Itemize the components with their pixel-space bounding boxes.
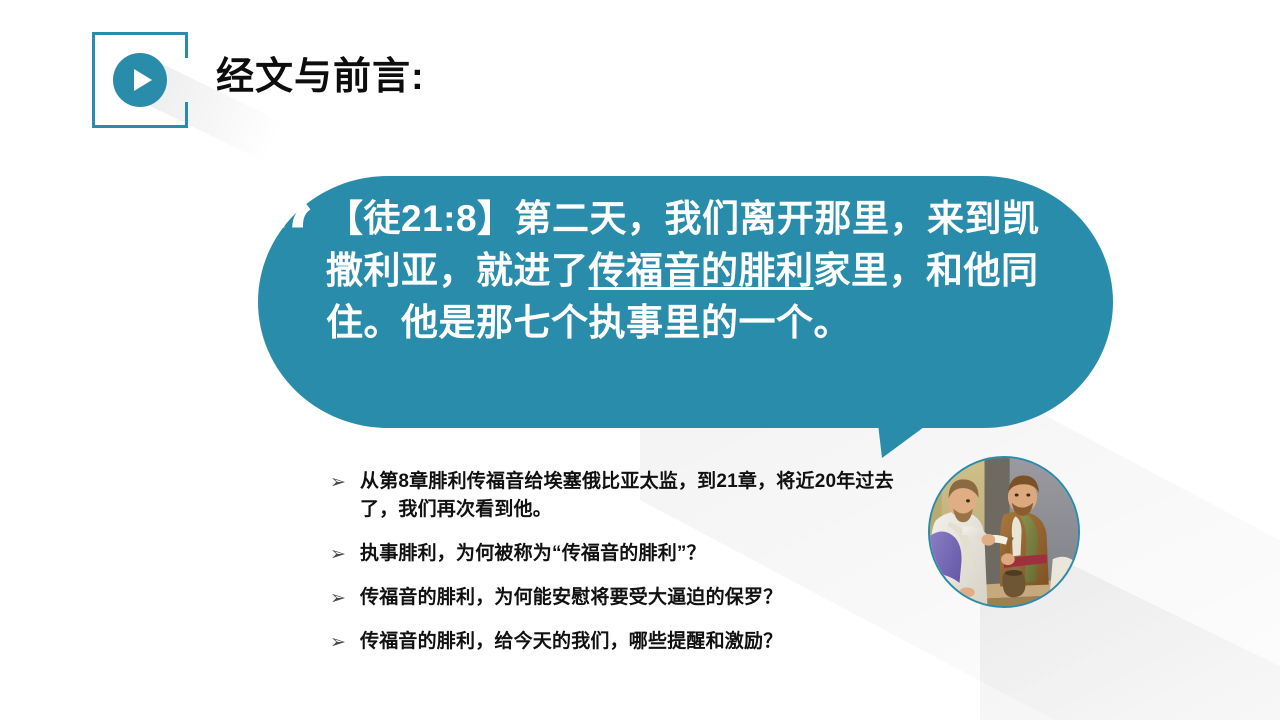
play-button-icon[interactable] (92, 32, 188, 128)
arrow-bullet-icon: ➢ (330, 468, 360, 496)
figure-artwork (930, 458, 1078, 606)
page-title: 经文与前言: (216, 50, 425, 104)
list-item-label: 传福音的腓利，为何能安慰将要受大逼迫的保罗？ (360, 584, 910, 612)
slide-canvas: 经文与前言: “ 【徒21:8】第二天，我们离开那里，来到凯撒利亚，就进了传福音… (0, 0, 1280, 720)
quote-bubble-tail (878, 424, 928, 458)
quotation-mark-icon: “ (268, 196, 312, 278)
frame-left-segment (92, 32, 95, 128)
list-item: ➢ 执事腓利，为何被称为“传福音的腓利”？ (330, 540, 910, 568)
bullet-list: ➢ 从第8章腓利传福音给埃塞俄比亚太监，到21章，将近20年过去了，我们再次看到… (330, 468, 910, 656)
arrow-bullet-icon: ➢ (330, 628, 360, 656)
play-circle-icon[interactable] (113, 53, 167, 107)
quote-line-4: 的一个。 (701, 302, 851, 343)
frame-right-top-segment (185, 32, 188, 58)
play-triangle-glyph (134, 69, 152, 91)
list-item: ➢ 传福音的腓利，给今天的我们，哪些提醒和激励？ (330, 628, 910, 656)
list-item-label: 执事腓利，为何被称为“传福音的腓利”？ (360, 540, 910, 568)
frame-top-segment (92, 32, 188, 35)
frame-right-bottom-segment (185, 102, 188, 128)
list-item-label: 传福音的腓利，给今天的我们，哪些提醒和激励？ (360, 628, 910, 656)
arrow-bullet-icon: ➢ (330, 584, 360, 612)
arrow-bullet-icon: ➢ (330, 540, 360, 568)
biblical-scene-illustration (928, 456, 1080, 608)
quote-emphasis: 传福音的腓利 (589, 250, 814, 291)
list-item: ➢ 传福音的腓利，为何能安慰将要受大逼迫的保罗？ (330, 584, 910, 612)
list-item-label: 从第8章腓利传福音给埃塞俄比亚太监，到21章，将近20年过去了，我们再次看到他。 (360, 468, 910, 524)
quote-line-1: 【徒21:8】第二天，我们离开那里， (326, 198, 927, 239)
quote-text: 【徒21:8】第二天，我们离开那里，来到凯撒利亚，就进了传福音的腓利家里，和他同… (326, 193, 1056, 349)
frame-bottom-segment (92, 125, 188, 128)
list-item: ➢ 从第8章腓利传福音给埃塞俄比亚太监，到21章，将近20年过去了，我们再次看到… (330, 468, 910, 524)
